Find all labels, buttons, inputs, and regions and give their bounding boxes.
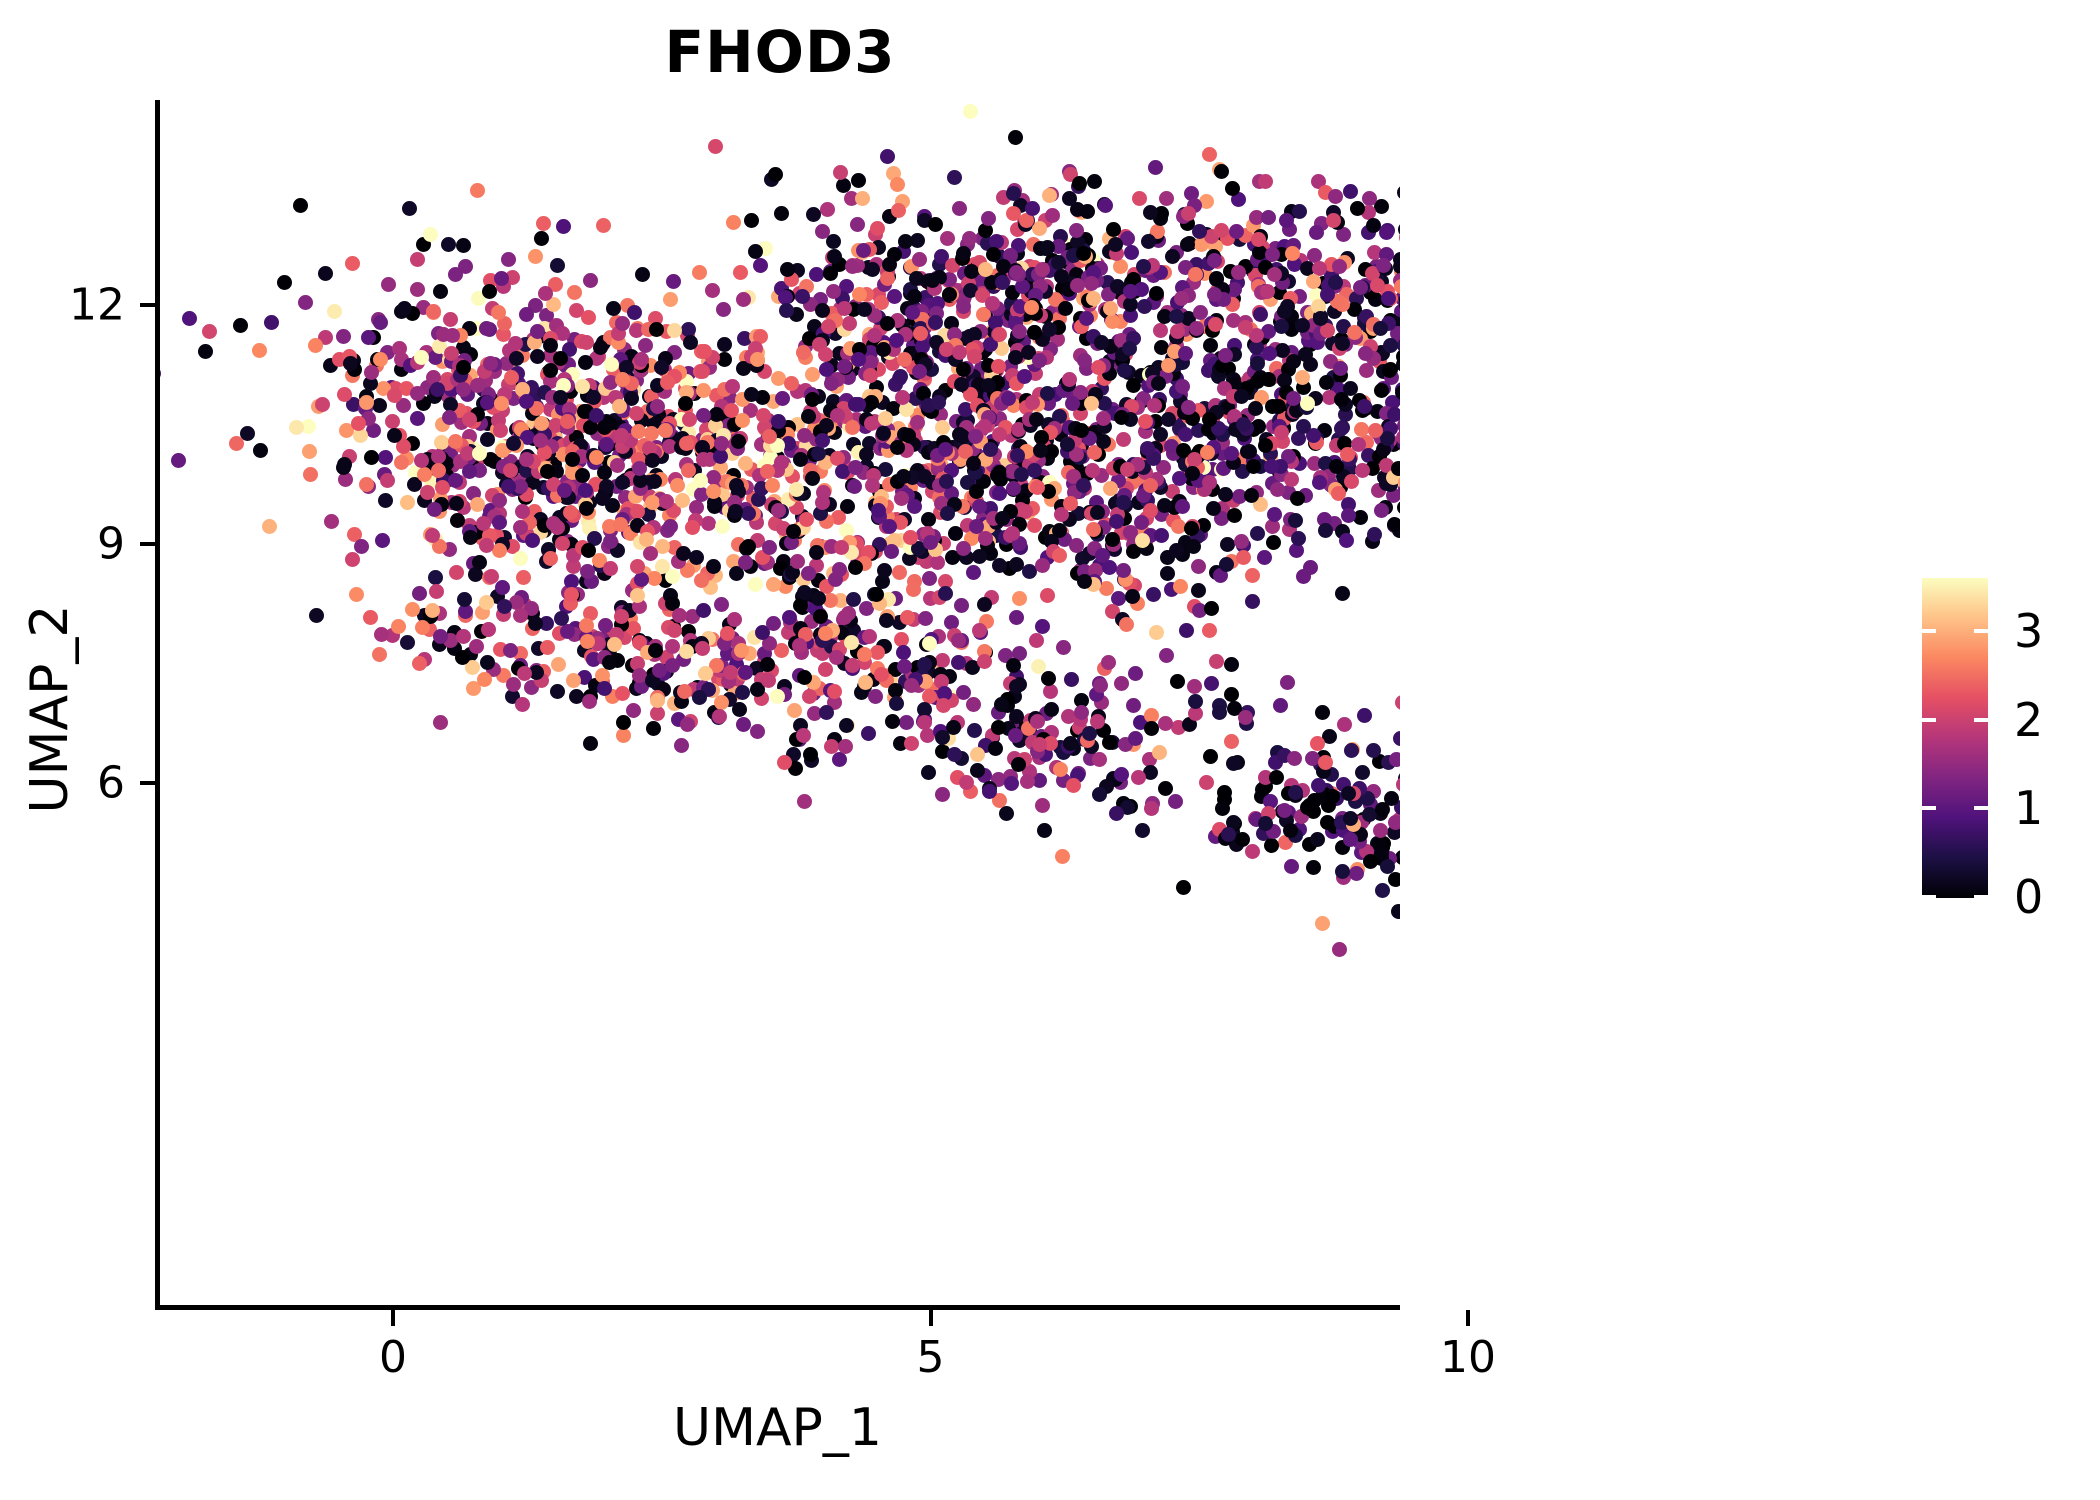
colorbar-tick-label: 0 <box>2014 870 2100 924</box>
scatter-point <box>604 357 619 372</box>
scatter-point <box>698 666 713 681</box>
scatter-point <box>766 577 781 592</box>
scatter-point <box>493 423 508 438</box>
scatter-point <box>1306 860 1321 875</box>
scatter-point <box>519 452 534 467</box>
scatter-point <box>1238 710 1253 725</box>
scatter-point <box>1375 802 1390 817</box>
scatter-point <box>431 449 446 464</box>
scatter-point <box>765 478 780 493</box>
scatter-point <box>516 570 531 585</box>
scatter-point <box>1004 776 1019 791</box>
scatter-point <box>940 506 955 521</box>
scatter-point <box>1388 872 1400 887</box>
scatter-point <box>1221 827 1236 842</box>
scatter-point <box>1290 491 1305 506</box>
scatter-point <box>501 252 516 267</box>
scatter-point <box>546 516 561 531</box>
scatter-point <box>589 450 604 465</box>
y-axis-label: UMAP_2 <box>20 104 80 1314</box>
scatter-point <box>821 319 836 334</box>
scatter-point <box>1214 223 1229 238</box>
scatter-point <box>1006 206 1021 221</box>
scatter-point <box>417 467 432 482</box>
scatter-point <box>1137 299 1152 314</box>
scatter-point <box>970 747 985 762</box>
scatter-point <box>1122 341 1137 356</box>
scatter-point <box>884 544 899 559</box>
scatter-point <box>1055 849 1070 864</box>
scatter-point <box>602 655 617 670</box>
scatter-point <box>870 645 885 660</box>
scatter-point <box>1144 721 1159 736</box>
scatter-point <box>1189 321 1204 336</box>
scatter-point <box>495 580 510 595</box>
scatter-point <box>1224 657 1239 672</box>
scatter-point <box>649 322 664 337</box>
scatter-point <box>1349 866 1364 881</box>
scatter-point <box>1149 625 1164 640</box>
scatter-point <box>1248 401 1263 416</box>
scatter-point <box>1188 706 1203 721</box>
scatter-point <box>1096 434 1111 449</box>
scatter-point <box>890 177 905 192</box>
scatter-point <box>264 315 279 330</box>
scatter-point <box>1060 437 1075 452</box>
scatter-point <box>1325 789 1340 804</box>
scatter-point <box>870 221 885 236</box>
scatter-point <box>171 453 186 468</box>
scatter-point <box>1391 461 1400 476</box>
scatter-point <box>1154 528 1169 543</box>
scatter-point <box>606 301 621 316</box>
scatter-point <box>1202 147 1217 162</box>
scatter-point <box>361 330 376 345</box>
scatter-point <box>1159 648 1174 663</box>
scatter-point <box>616 715 631 730</box>
scatter-point <box>1373 321 1388 336</box>
scatter-point <box>706 484 721 499</box>
scatter-point <box>848 560 863 575</box>
scatter-point <box>947 170 962 185</box>
scatter-point <box>381 277 396 292</box>
scatter-point <box>906 582 921 597</box>
scatter-point <box>479 538 494 553</box>
scatter-plot-area <box>160 100 1400 1305</box>
scatter-point <box>1187 679 1202 694</box>
scatter-point <box>989 234 1004 249</box>
scatter-point <box>991 720 1006 735</box>
scatter-point <box>1344 743 1359 758</box>
scatter-point <box>918 611 933 626</box>
scatter-point <box>566 673 581 688</box>
scatter-point <box>890 440 905 455</box>
scatter-point <box>1161 412 1176 427</box>
scatter-point <box>917 702 932 717</box>
scatter-point <box>1045 208 1060 223</box>
scatter-point <box>1337 717 1352 732</box>
scatter-point <box>513 608 528 623</box>
scatter-point <box>805 392 820 407</box>
scatter-point <box>400 635 415 650</box>
scatter-point <box>1184 521 1199 536</box>
scatter-point <box>596 218 611 233</box>
scatter-point <box>1284 859 1299 874</box>
scatter-point <box>806 207 821 222</box>
scatter-point <box>450 513 465 528</box>
scatter-point <box>599 437 614 452</box>
x-axis-label: UMAP_1 <box>155 1398 1400 1458</box>
scatter-point <box>1235 832 1250 847</box>
scatter-point <box>1343 811 1358 826</box>
scatter-point <box>1105 532 1120 547</box>
scatter-point <box>1042 188 1057 203</box>
scatter-point <box>479 595 494 610</box>
scatter-point <box>1315 916 1330 931</box>
scatter-point <box>780 262 795 277</box>
scatter-point <box>1069 223 1084 238</box>
scatter-point <box>492 493 507 508</box>
scatter-point <box>1084 396 1099 411</box>
scatter-point <box>412 586 427 601</box>
scatter-point <box>1253 307 1268 322</box>
scatter-point <box>550 258 565 273</box>
scatter-point <box>820 202 835 217</box>
scatter-point <box>867 328 882 343</box>
scatter-point <box>850 217 865 232</box>
scatter-point <box>634 352 649 367</box>
scatter-point <box>1231 265 1246 280</box>
scatter-point <box>1070 278 1085 293</box>
scatter-point <box>713 449 728 464</box>
scatter-point <box>1219 557 1234 572</box>
scatter-point <box>1035 558 1050 573</box>
scatter-point <box>1009 610 1024 625</box>
scatter-point <box>931 395 946 410</box>
scatter-point <box>786 524 801 539</box>
scatter-point <box>735 685 750 700</box>
scatter-point <box>1101 655 1116 670</box>
scatter-point <box>607 637 622 652</box>
scatter-point <box>563 505 578 520</box>
scatter-point <box>364 365 379 380</box>
scatter-point <box>935 653 950 668</box>
scatter-point <box>970 763 985 778</box>
scatter-point <box>615 686 630 701</box>
scatter-point <box>1270 482 1285 497</box>
scatter-point <box>364 450 379 465</box>
scatter-point <box>229 436 244 451</box>
scatter-point <box>797 794 812 809</box>
scatter-point <box>963 104 978 119</box>
scatter-point <box>1091 360 1106 375</box>
scatter-point <box>962 231 977 246</box>
scatter-point <box>343 356 358 371</box>
scatter-point <box>701 516 716 531</box>
scatter-point <box>845 658 860 673</box>
scatter-point <box>832 752 847 767</box>
scatter-point <box>1175 499 1190 514</box>
scatter-point <box>581 543 596 558</box>
scatter-point <box>575 379 590 394</box>
scatter-point <box>378 450 393 465</box>
scatter-point <box>1153 323 1168 338</box>
scatter-point <box>977 597 992 612</box>
scatter-point <box>1269 770 1284 785</box>
scatter-point <box>1214 164 1229 179</box>
scatter-point <box>748 244 763 259</box>
scatter-point <box>492 515 507 530</box>
scatter-point <box>705 283 720 298</box>
scatter-point <box>160 366 161 381</box>
scatter-point <box>696 603 711 618</box>
scatter-point <box>1128 666 1143 681</box>
scatter-point <box>1158 716 1173 731</box>
scatter-point <box>734 643 749 658</box>
scatter-point <box>1332 259 1347 274</box>
scatter-point <box>880 316 895 331</box>
scatter-point <box>302 444 317 459</box>
scatter-point <box>1393 731 1400 746</box>
scatter-point <box>796 345 811 360</box>
scatter-point <box>921 512 936 527</box>
scatter-point <box>1098 198 1113 213</box>
scatter-point <box>689 550 704 565</box>
scatter-point <box>1136 259 1151 274</box>
scatter-point <box>663 292 678 307</box>
scatter-point <box>1030 714 1045 729</box>
scatter-point <box>1340 447 1355 462</box>
scatter-point <box>583 273 598 288</box>
x-tick-label: 5 <box>851 1332 1011 1383</box>
scatter-point <box>994 697 1009 712</box>
scatter-point <box>936 698 951 713</box>
scatter-point <box>948 526 963 541</box>
scatter-point <box>410 386 425 401</box>
scatter-point <box>951 655 966 670</box>
scatter-point <box>448 267 463 282</box>
scatter-point <box>1029 412 1044 427</box>
scatter-point <box>992 327 1007 342</box>
scatter-point <box>1199 775 1214 790</box>
colorbar-tick-mark <box>1974 895 1988 899</box>
scatter-point <box>616 728 631 743</box>
scatter-point <box>1191 559 1206 574</box>
scatter-point <box>1343 832 1358 847</box>
scatter-point <box>1092 787 1107 802</box>
scatter-point <box>410 411 425 426</box>
scatter-point <box>351 416 366 431</box>
scatter-point <box>815 433 830 448</box>
scatter-point <box>1335 864 1350 879</box>
scatter-point <box>540 464 555 479</box>
scatter-point <box>1309 225 1324 240</box>
scatter-point <box>1178 346 1193 361</box>
scatter-point <box>1204 601 1219 616</box>
scatter-point <box>639 532 654 547</box>
scatter-point <box>1033 443 1048 458</box>
scatter-point <box>1267 507 1282 522</box>
scatter-point <box>928 315 943 330</box>
scatter-point <box>501 479 516 494</box>
scatter-point <box>693 473 708 488</box>
scatter-point <box>762 429 777 444</box>
scatter-point <box>935 787 950 802</box>
scatter-point <box>1397 185 1400 200</box>
scatter-point <box>277 275 292 290</box>
scatter-point <box>1041 671 1056 686</box>
scatter-point <box>857 302 872 317</box>
scatter-point <box>1303 560 1318 575</box>
scatter-point <box>999 806 1014 821</box>
colorbar-gradient <box>1922 578 1988 898</box>
scatter-point <box>327 304 342 319</box>
scatter-point <box>1064 672 1079 687</box>
scatter-point <box>359 395 374 410</box>
scatter-point <box>1266 535 1281 550</box>
scatter-point <box>837 301 852 316</box>
scatter-point <box>515 504 530 519</box>
scatter-point <box>1052 548 1067 563</box>
scatter-point <box>714 695 729 710</box>
scatter-point <box>610 458 625 473</box>
scatter-point <box>717 337 732 352</box>
scatter-point <box>956 299 971 314</box>
scatter-point <box>695 364 710 379</box>
scatter-point <box>525 533 540 548</box>
scatter-point <box>717 352 732 367</box>
scatter-point <box>632 461 647 476</box>
scatter-point <box>1020 774 1035 789</box>
colorbar-tick-mark <box>1922 718 1936 722</box>
scatter-point <box>469 639 484 654</box>
scatter-point <box>756 408 771 423</box>
scatter-point <box>855 191 870 206</box>
scatter-point <box>374 627 389 642</box>
x-tick-label: 10 <box>1388 1332 1548 1383</box>
scatter-point <box>345 552 360 567</box>
scatter-point <box>308 338 323 353</box>
scatter-point <box>1310 736 1325 751</box>
x-tick-mark <box>929 1310 933 1326</box>
scatter-point <box>359 477 374 492</box>
scatter-point <box>868 689 883 704</box>
scatter-point <box>851 352 866 367</box>
scatter-point <box>414 453 429 468</box>
scatter-point <box>952 201 967 216</box>
x-axis-spine <box>155 1305 1400 1310</box>
scatter-point <box>904 736 919 751</box>
scatter-point <box>665 639 680 654</box>
scatter-point <box>797 670 812 685</box>
scatter-point <box>995 511 1010 526</box>
scatter-point <box>726 215 741 230</box>
scatter-point <box>394 455 409 470</box>
scatter-point <box>784 376 799 391</box>
scatter-point <box>363 610 378 625</box>
scatter-point <box>1025 395 1040 410</box>
scatter-point <box>202 324 217 339</box>
scatter-point <box>480 432 495 447</box>
scatter-point <box>915 339 930 354</box>
scatter-point <box>1375 883 1390 898</box>
scatter-point <box>1318 523 1333 538</box>
scatter-point <box>777 755 792 770</box>
scatter-point <box>1234 534 1249 549</box>
scatter-point <box>1029 633 1044 648</box>
scatter-point <box>391 619 406 634</box>
scatter-point <box>1224 687 1239 702</box>
scatter-point <box>837 610 852 625</box>
scatter-point <box>385 414 400 429</box>
scatter-point <box>1128 731 1143 746</box>
scatter-point <box>182 311 197 326</box>
scatter-point <box>441 237 456 252</box>
scatter-point <box>233 318 248 333</box>
scatter-point <box>824 376 839 391</box>
scatter-point <box>583 736 598 751</box>
scatter-point <box>1291 531 1306 546</box>
scatter-point <box>1035 619 1050 634</box>
scatter-point <box>981 378 996 393</box>
scatter-point <box>506 436 521 451</box>
scatter-point <box>1044 702 1059 717</box>
scatter-point <box>614 428 629 443</box>
scatter-point <box>809 545 824 560</box>
scatter-point <box>1012 591 1027 606</box>
scatter-point <box>1135 533 1150 548</box>
scatter-point <box>1389 752 1400 767</box>
scatter-point <box>947 747 962 762</box>
scatter-point <box>1025 201 1040 216</box>
scatter-point <box>830 408 845 423</box>
scatter-point <box>865 262 880 277</box>
scatter-point <box>1264 459 1279 474</box>
scatter-point <box>1287 751 1302 766</box>
scatter-point <box>1135 823 1150 838</box>
scatter-point <box>1131 770 1146 785</box>
scatter-point <box>449 565 464 580</box>
scatter-point <box>913 326 928 341</box>
scatter-point <box>862 629 877 644</box>
scatter-point <box>1273 698 1288 713</box>
scatter-point <box>1034 430 1049 445</box>
scatter-point <box>990 468 1005 483</box>
scatter-point <box>681 463 696 478</box>
scatter-point <box>1053 762 1068 777</box>
scatter-point <box>844 635 859 650</box>
scatter-point <box>354 539 369 554</box>
scatter-point <box>852 287 867 302</box>
scatter-point <box>1084 276 1099 291</box>
scatter-point <box>1262 346 1277 361</box>
scatter-point <box>1312 475 1327 490</box>
scatter-point <box>818 347 833 362</box>
scatter-point <box>856 243 871 258</box>
scatter-point <box>1006 186 1021 201</box>
scatter-point <box>858 675 873 690</box>
scatter-point <box>1001 391 1016 406</box>
scatter-point <box>899 715 914 730</box>
scatter-point <box>992 427 1007 442</box>
scatter-point <box>714 436 729 451</box>
scatter-point <box>530 349 545 364</box>
scatter-point <box>956 246 971 261</box>
scatter-point <box>731 434 746 449</box>
scatter-point <box>727 612 742 627</box>
scatter-point <box>666 274 681 289</box>
scatter-point <box>938 586 953 601</box>
